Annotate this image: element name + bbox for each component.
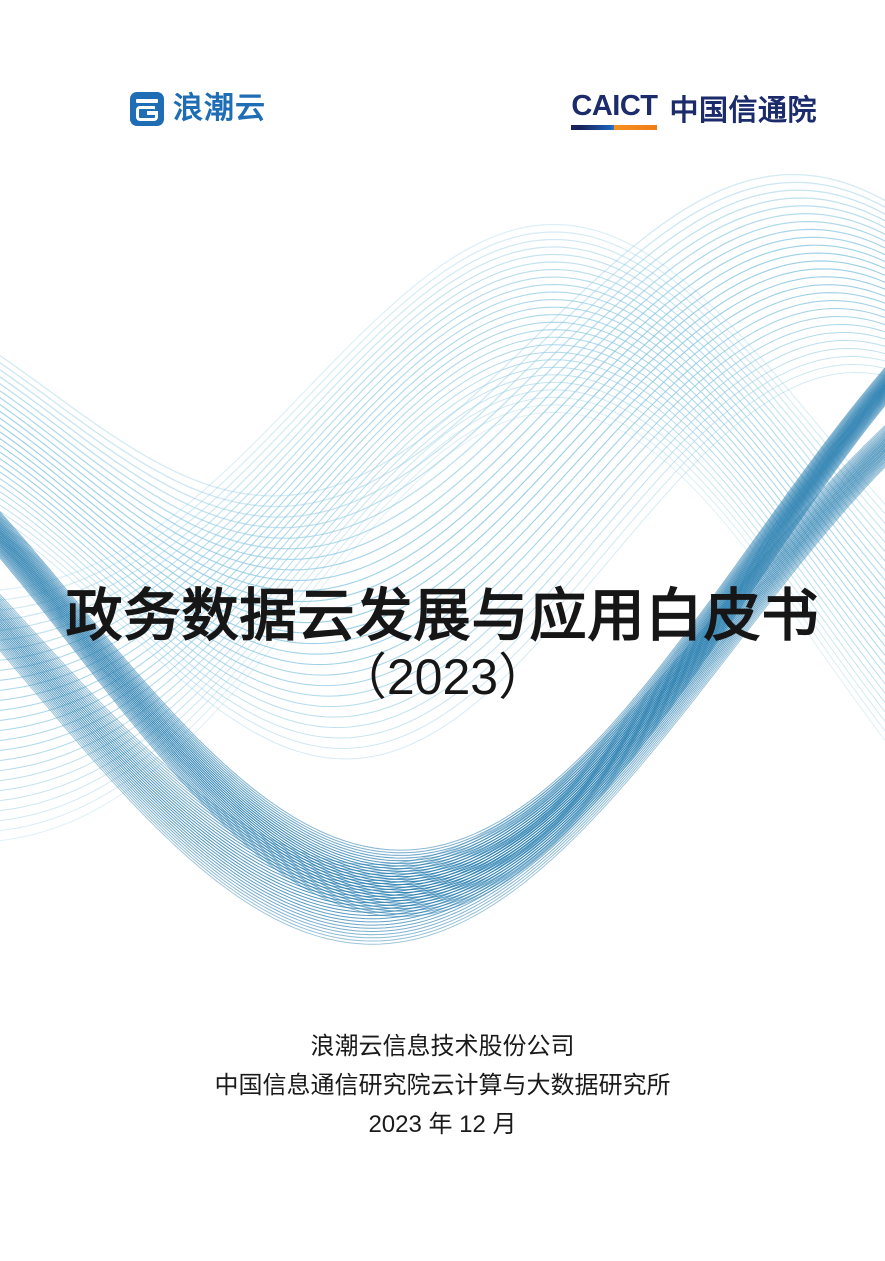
- footer-line-institute: 中国信息通信研究院云计算与大数据研究所: [0, 1067, 885, 1106]
- document-cover-page: 浪潮云 CAICT 中国信通院 政务数据云发展与应用白皮书 （2023） 浪潮云…: [0, 0, 885, 1261]
- inspur-cloud-logo-mark: [130, 92, 164, 126]
- caict-chinese-name: 中国信通院: [669, 97, 817, 126]
- footer-line-publisher: 浪潮云信息技术股份公司: [0, 1028, 885, 1067]
- caict-acronym: CAICT: [571, 90, 657, 122]
- inspur-cloud-logo-text: 浪潮云: [173, 94, 266, 124]
- header-logo-row: 浪潮云 CAICT 中国信通院: [0, 92, 885, 148]
- caict-logo: CAICT 中国信通院: [571, 92, 817, 130]
- caict-acronym-group: CAICT: [571, 92, 657, 130]
- page-title-year: （2023）: [0, 650, 885, 705]
- caict-underline-rule: [571, 125, 657, 130]
- footer-line-date: 2023 年 12 月: [0, 1106, 885, 1145]
- title-block: 政务数据云发展与应用白皮书 （2023）: [0, 586, 885, 705]
- footer-block: 浪潮云信息技术股份公司 中国信息通信研究院云计算与大数据研究所 2023 年 1…: [0, 1028, 885, 1145]
- inspur-cloud-logo: 浪潮云: [130, 92, 266, 126]
- page-title: 政务数据云发展与应用白皮书: [0, 586, 885, 646]
